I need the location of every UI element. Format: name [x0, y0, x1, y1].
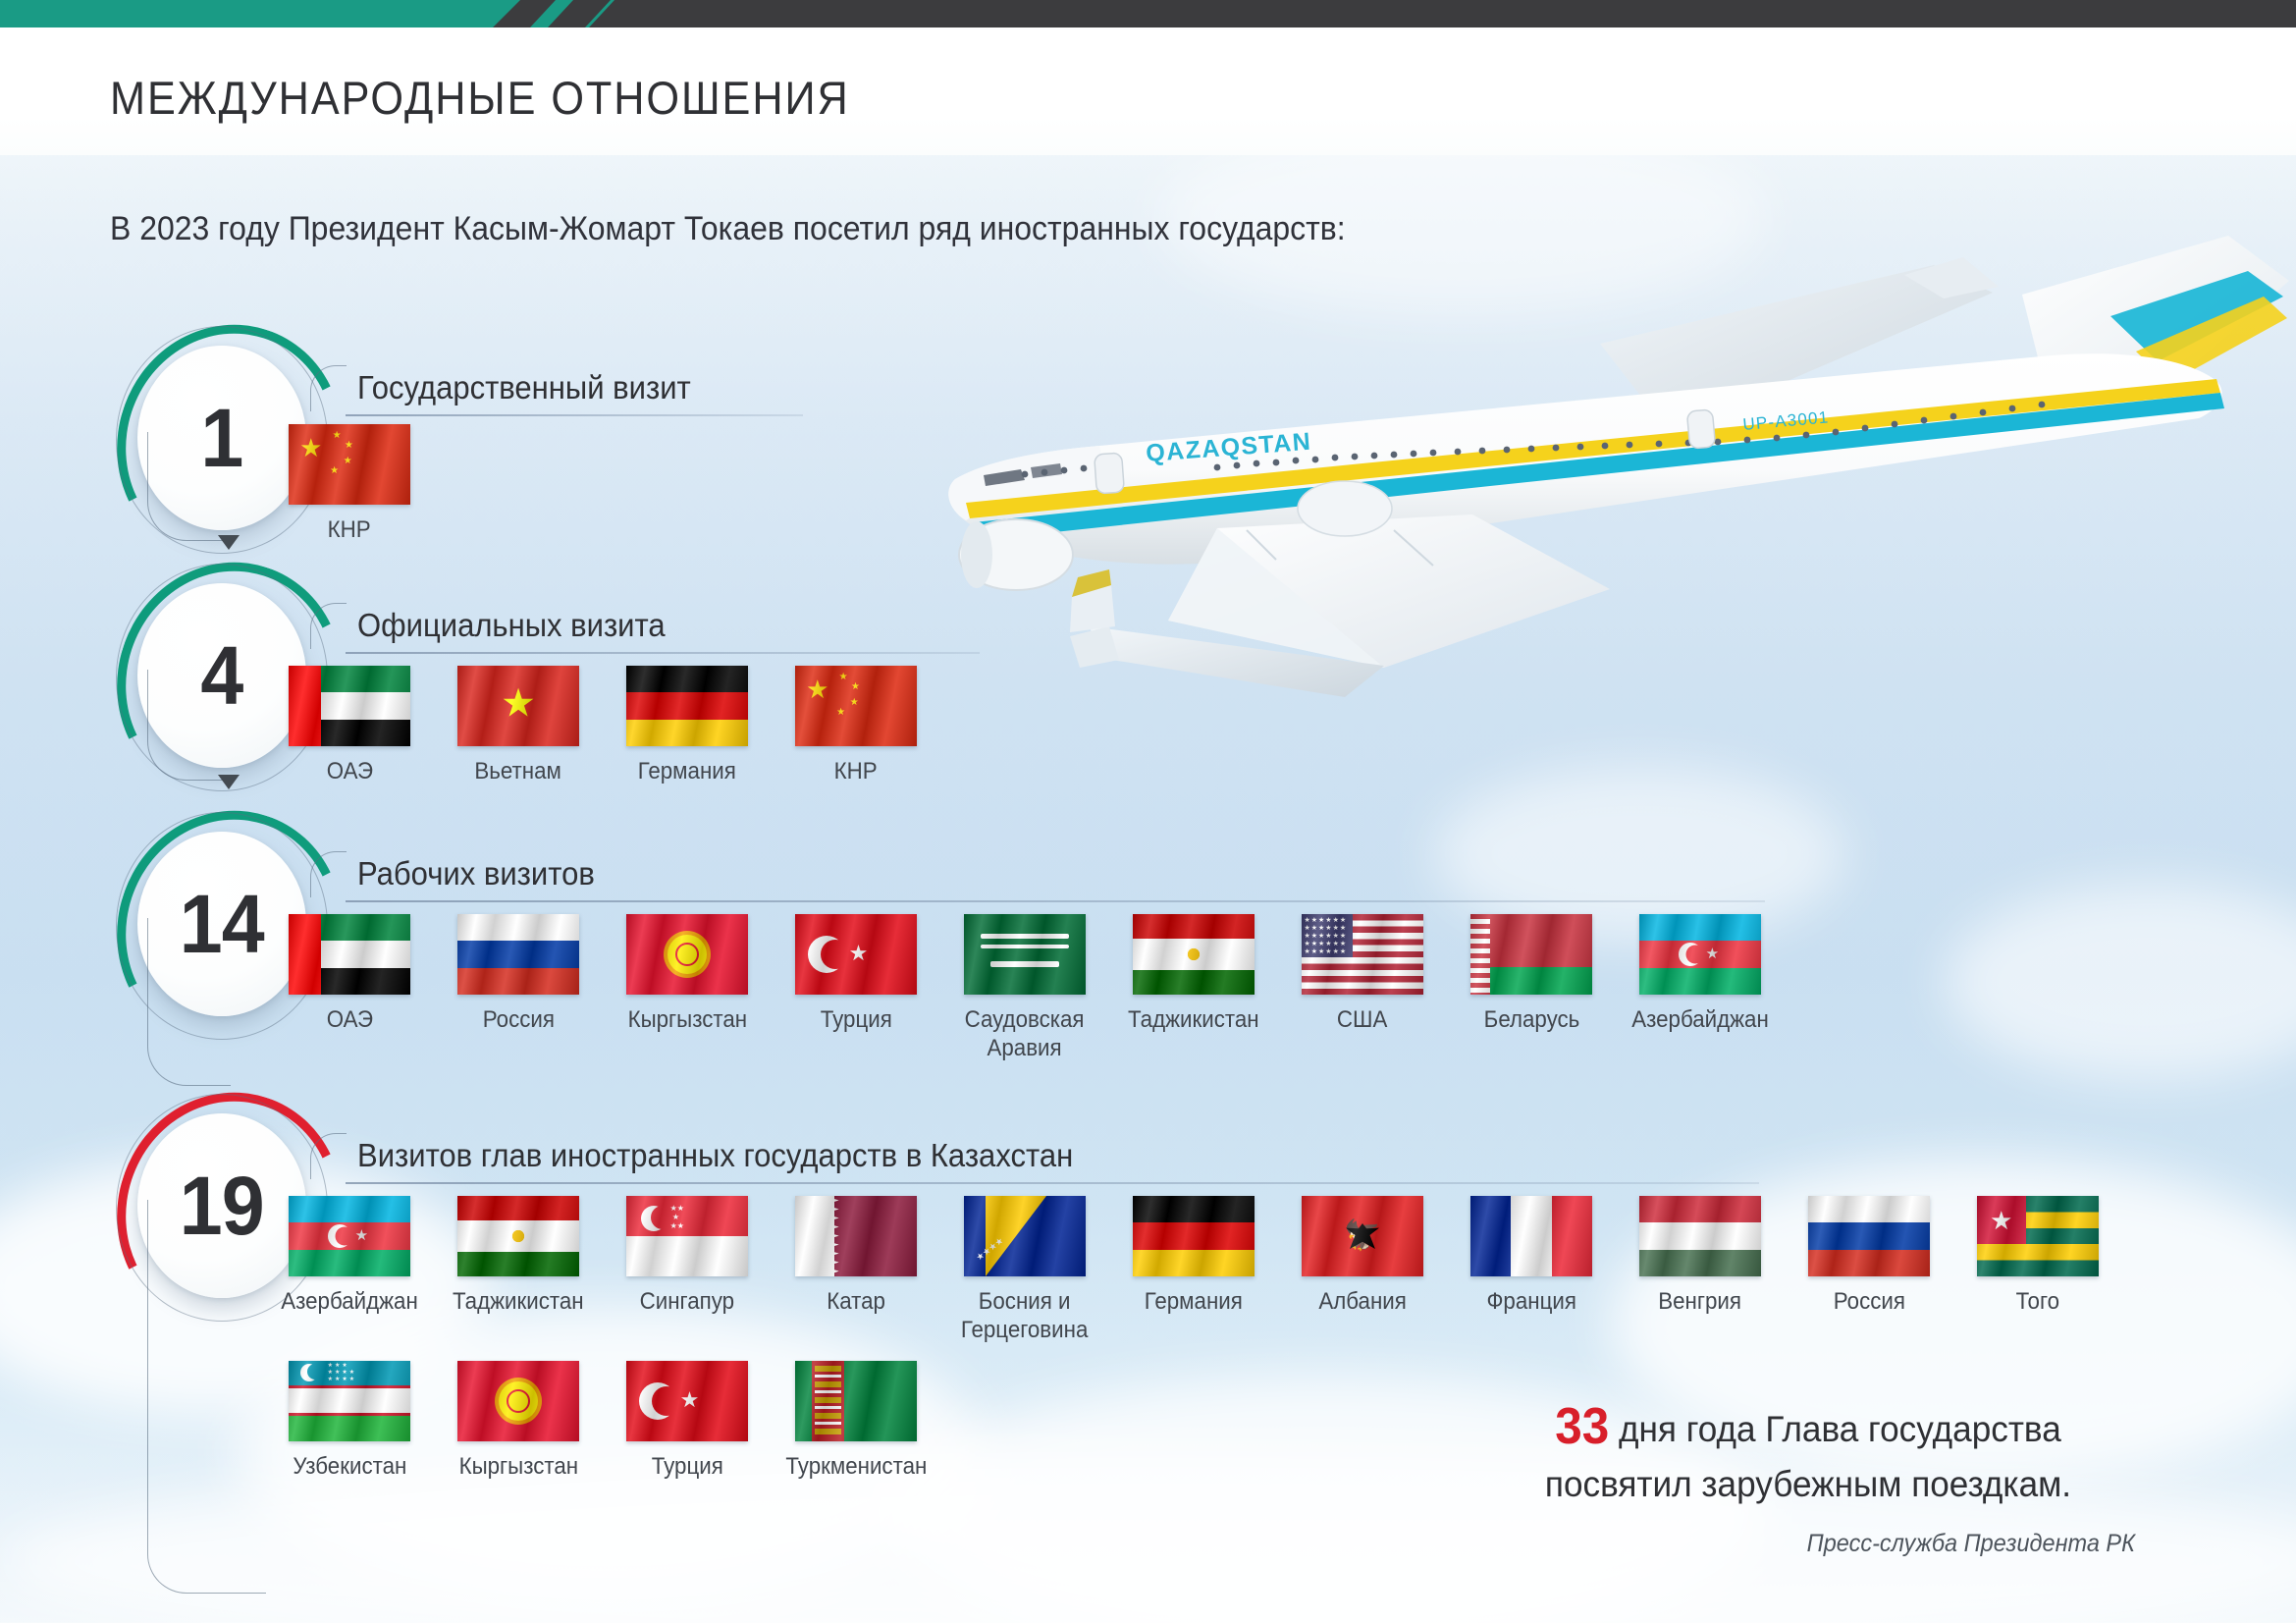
section-title: Государственный визит [357, 369, 691, 406]
flag-sa-icon [964, 914, 1086, 995]
days-abroad-note: 33 дня года Глава государства посвятил з… [1465, 1394, 2152, 1508]
flag-item[interactable]: Россия [434, 914, 603, 1063]
flag-item[interactable]: ★ Вьетнам [434, 666, 603, 785]
days-abroad-line2: посвятил зарубежным поездкам. [1482, 1461, 2135, 1508]
flag-item[interactable]: ★ ★ ★ ★ ★ КНР [265, 424, 434, 544]
flag-de-icon [1133, 1196, 1255, 1276]
flag-kg-icon [457, 1361, 579, 1441]
flag-country-label: Сингапур [640, 1287, 734, 1316]
flag-item[interactable]: ★★★★★★★★★★★ Узбекистан [265, 1361, 434, 1481]
section-rule [346, 652, 980, 654]
section-title: Официальных визита [357, 607, 666, 644]
flag-country-label: США [1337, 1005, 1387, 1034]
flag-item[interactable]: ★★ ★★★ Сингапур [603, 1196, 772, 1345]
section-rule [346, 414, 803, 416]
flag-country-label: Азербайджан [281, 1287, 418, 1316]
flag-country-label: Россия [1833, 1287, 1904, 1316]
cloud-decoration [1944, 884, 2296, 1080]
flag-country-label: Кыргызстан [627, 1005, 746, 1034]
flag-country-label: Германия [1145, 1287, 1243, 1316]
flag-row: ★ Азербайджан Таджикистан [265, 1196, 2122, 1345]
flag-item[interactable]: ★★★★ Босния и Герцеговина [940, 1196, 1109, 1345]
flag-ae-icon [289, 914, 410, 995]
flag-country-label: Франция [1486, 1287, 1575, 1316]
top-accent-bar [0, 0, 2296, 27]
page-title: МЕЖДУНАРОДНЫЕ ОТНОШЕНИЯ [110, 71, 850, 125]
days-count: 33 [1555, 1398, 1609, 1455]
flag-fr-icon [1470, 1196, 1592, 1276]
flag-item[interactable]: Франция [1447, 1196, 1616, 1345]
flag-row: ОАЭ ★ Вьетнам Германия [265, 666, 940, 785]
flag-tg-icon: ★ [1977, 1196, 2099, 1276]
topbar-slash-2 [585, 0, 614, 27]
flag-country-label: Узбекистан [293, 1452, 406, 1481]
flag-country-label: Венгрия [1659, 1287, 1742, 1316]
flag-item[interactable]: Венгрия [1616, 1196, 1785, 1345]
flag-item[interactable]: ★ Турция [603, 1361, 772, 1481]
flag-az-icon: ★ [1639, 914, 1761, 995]
flag-country-label: Албания [1318, 1287, 1406, 1316]
flag-country-label: Босния и Герцеговина [961, 1287, 1089, 1345]
flag-sg-icon: ★★ ★★★ [626, 1196, 748, 1276]
section-rule [346, 900, 1765, 902]
flag-uz-icon: ★★★★★★★★★★★ [289, 1361, 410, 1441]
section-title: Визитов глав иностранных государств в Ка… [357, 1137, 1073, 1174]
press-service-credit: Пресс-служба Президента РК [1807, 1530, 2135, 1558]
topbar-slash-1 [530, 0, 573, 27]
flag-country-label: ОАЭ [326, 757, 372, 785]
flag-country-label: Туркменистан [785, 1452, 927, 1481]
flag-country-label: Катар [827, 1287, 885, 1316]
flag-ru-icon [457, 914, 579, 995]
airplane-illustration: QAZAQSTAN UP-A3001 [923, 236, 2296, 864]
flag-country-label: Россия [482, 1005, 554, 1034]
timeline-arrow-icon [218, 535, 240, 550]
flag-cn-icon: ★ ★ ★ ★ ★ [289, 424, 410, 505]
timeline-connector [147, 432, 231, 541]
flag-kg-icon [626, 914, 748, 995]
section-rule [346, 1182, 1759, 1184]
flag-row: ★ ★ ★ ★ ★ КНР [265, 424, 434, 544]
flag-country-label: Германия [638, 757, 736, 785]
flag-item[interactable]: ★ Того [1953, 1196, 2122, 1345]
flag-tr-icon: ★ [626, 1361, 748, 1441]
flag-country-label: Таджикистан [1128, 1005, 1259, 1034]
flag-item[interactable]: Таджикистан [434, 1196, 603, 1345]
topbar-teal-block [0, 0, 520, 27]
flag-country-label: Беларусь [1483, 1005, 1579, 1034]
flag-country-label: КНР [834, 757, 878, 785]
flag-ru-icon [1808, 1196, 1930, 1276]
flag-country-label: Кыргызстан [458, 1452, 577, 1481]
flag-item[interactable]: ★★★★★★★★★★★★★★★★★★★★★★★★★★★★★★ США [1278, 914, 1447, 1063]
flag-country-label: Азербайджан [1631, 1005, 1769, 1034]
timeline-arrow-icon [218, 775, 240, 789]
flag-item[interactable]: ОАЭ [265, 666, 434, 785]
timeline-connector [147, 670, 231, 781]
flag-country-label: ОАЭ [326, 1005, 372, 1034]
flag-item[interactable]: ОАЭ [265, 914, 434, 1063]
flag-tj-icon [1133, 914, 1255, 995]
flag-us-icon: ★★★★★★★★★★★★★★★★★★★★★★★★★★★★★★ [1302, 914, 1423, 995]
flag-de-icon [626, 666, 748, 746]
flag-ae-icon [289, 666, 410, 746]
flag-item[interactable]: ★ Турция [772, 914, 940, 1063]
flag-country-label: Турция [651, 1452, 722, 1481]
flag-ba-icon: ★★★★ [964, 1196, 1086, 1276]
flag-vn-icon: ★ [457, 666, 579, 746]
flag-item[interactable]: Германия [603, 666, 772, 785]
flag-item[interactable]: Туркменистан [772, 1361, 940, 1481]
flag-item[interactable]: Россия [1785, 1196, 1953, 1345]
flag-az-icon: ★ [289, 1196, 410, 1276]
flag-country-label: Таджикистан [453, 1287, 584, 1316]
flag-tr-icon: ★ [795, 914, 917, 995]
flag-item[interactable]: Беларусь [1447, 914, 1616, 1063]
flag-country-label: Саудовская Аравия [965, 1005, 1085, 1063]
flag-tj-icon [457, 1196, 579, 1276]
days-abroad-line1-rest: дня года Глава государства [1609, 1409, 2061, 1449]
flag-row: ОАЭ Россия Кыргызстан [265, 914, 1785, 1063]
flag-cn-icon: ★ ★ ★ ★ ★ [795, 666, 917, 746]
flag-country-label: Турция [820, 1005, 891, 1034]
flag-qa-icon [795, 1196, 917, 1276]
flag-item[interactable]: Таджикистан [1109, 914, 1278, 1063]
flag-item[interactable]: Германия [1109, 1196, 1278, 1345]
flag-row: ★★★★★★★★★★★ Узбекистан Кыргызстан ★ [265, 1361, 940, 1481]
timeline-connector [147, 918, 231, 1086]
flag-item[interactable]: Катар [772, 1196, 940, 1345]
flag-item[interactable]: Саудовская Аравия [940, 914, 1109, 1063]
flag-item[interactable]: ★ ★ ★ ★ ★ КНР [772, 666, 940, 785]
flag-tm-icon [795, 1361, 917, 1441]
timeline-connector-end [147, 1200, 266, 1594]
flag-country-label: Того [2016, 1287, 2059, 1316]
flag-by-icon [1470, 914, 1592, 995]
flag-hu-icon [1639, 1196, 1761, 1276]
flag-item[interactable]: Кыргызстан [603, 914, 772, 1063]
flag-al-icon: 🦅 [1302, 1196, 1423, 1276]
flag-item[interactable]: Кыргызстан [434, 1361, 603, 1481]
flag-country-label: КНР [328, 515, 371, 544]
days-abroad-line1: 33 дня года Глава государства [1482, 1394, 2135, 1461]
flag-item[interactable]: ★ Азербайджан [1616, 914, 1785, 1063]
flag-item[interactable]: ★ Азербайджан [265, 1196, 434, 1345]
section-title: Рабочих визитов [357, 855, 595, 893]
flag-country-label: Вьетнам [475, 757, 561, 785]
flag-item[interactable]: 🦅 Албания [1278, 1196, 1447, 1345]
